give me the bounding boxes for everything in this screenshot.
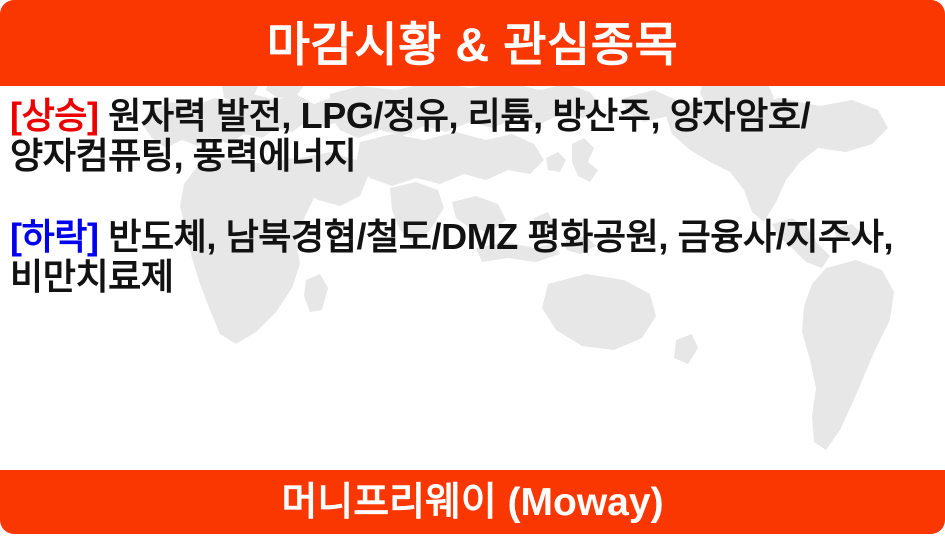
header-banner: 마감시황 & 관심종목 [0, 0, 945, 86]
falling-sectors-line: [하락] 반도체, 남북경협/철도/DMZ 평화공원, 금융사/지주사, 비만치… [10, 217, 933, 298]
rising-sectors-text: 원자력 발전, LPG/정유, 리튬, 방산주, 양자암호/양자컴퓨팅, 풍력에… [10, 95, 810, 176]
rising-sectors-line: [상승] 원자력 발전, LPG/정유, 리튬, 방산주, 양자암호/양자컴퓨팅… [10, 96, 933, 177]
page-title: 마감시황 & 관심종목 [267, 21, 678, 68]
market-summary-card: 마감시황 & 관심종목 [상승] 원자력 발전, LPG/정유, 리튬, 방산주… [0, 0, 945, 537]
falling-tag: [하락] [10, 216, 99, 257]
content-area: [상승] 원자력 발전, LPG/정유, 리튬, 방산주, 양자암호/양자컴퓨팅… [0, 86, 945, 470]
footer-banner: 머니프리웨이 (Moway) [0, 470, 945, 534]
rising-tag: [상승] [10, 95, 99, 136]
falling-sectors-text: 반도체, 남북경협/철도/DMZ 평화공원, 금융사/지주사, 비만치료제 [10, 216, 893, 297]
brand-name: 머니프리웨이 (Moway) [281, 483, 663, 522]
